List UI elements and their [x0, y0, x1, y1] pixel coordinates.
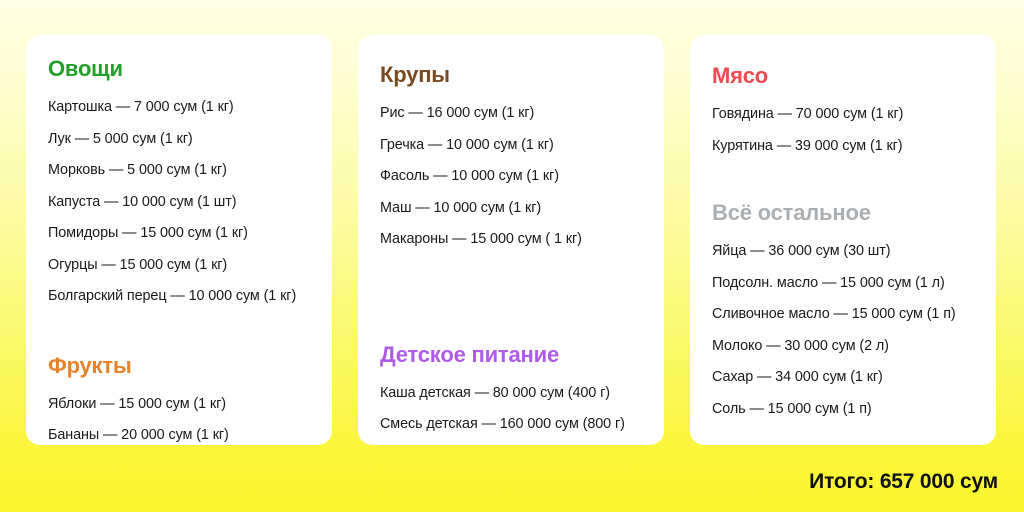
list-item: Смесь детская — 160 000 сум (800 г) [380, 409, 642, 441]
list-item: Курятина — 39 000 сум (1 кг) [712, 131, 974, 163]
category-group-vegetables: Овощи Картошка — 7 000 сум (1 кг) Лук — … [26, 56, 332, 313]
category-group-baby-food: Детское питание Каша детская — 80 000 су… [358, 342, 664, 441]
list-item: Помидоры — 15 000 сум (1 кг) [48, 218, 310, 250]
list-item: Капуста — 10 000 сум (1 шт) [48, 187, 310, 219]
category-card-meat-other: Мясо Говядина — 70 000 сум (1 кг) Куряти… [690, 35, 996, 445]
list-item: Гречка — 10 000 сум (1 кг) [380, 130, 642, 162]
group-title-fruits: Фрукты [48, 353, 310, 379]
category-group-everything-else: Всё остальное Яйца — 36 000 сум (30 шт) … [690, 200, 996, 425]
list-item: Фасоль — 10 000 сум (1 кг) [380, 161, 642, 193]
list-item: Бананы — 20 000 сум (1 кг) [48, 420, 310, 445]
total-amount: Итого: 657 000 сум [809, 470, 998, 494]
list-item: Болгарский перец — 10 000 сум (1 кг) [48, 281, 310, 313]
list-item: Картошка — 7 000 сум (1 кг) [48, 92, 310, 124]
cards-container: Овощи Картошка — 7 000 сум (1 кг) Лук — … [26, 35, 998, 445]
group-title-meat: Мясо [712, 63, 974, 89]
list-item: Молоко — 30 000 сум (2 л) [712, 331, 974, 363]
list-item: Яйца — 36 000 сум (30 шт) [712, 236, 974, 268]
list-item: Морковь — 5 000 сум (1 кг) [48, 155, 310, 187]
category-group-meat: Мясо Говядина — 70 000 сум (1 кг) Куряти… [690, 63, 996, 162]
list-item: Говядина — 70 000 сум (1 кг) [712, 99, 974, 131]
list-item: Лук — 5 000 сум (1 кг) [48, 124, 310, 156]
list-item: Макароны — 15 000 сум ( 1 кг) [380, 224, 642, 256]
category-group-grains: Крупы Рис — 16 000 сум (1 кг) Гречка — 1… [358, 62, 664, 256]
category-group-fruits: Фрукты Яблоки — 15 000 сум (1 кг) Бананы… [26, 353, 332, 446]
group-title-baby-food: Детское питание [380, 342, 642, 368]
list-item: Сахар — 34 000 сум (1 кг) [712, 362, 974, 394]
list-item: Сливочное масло — 15 000 сум (1 п) [712, 299, 974, 331]
group-title-vegetables: Овощи [48, 56, 310, 82]
category-card-grains-babyfood: Крупы Рис — 16 000 сум (1 кг) Гречка — 1… [358, 35, 664, 445]
group-title-grains: Крупы [380, 62, 642, 88]
group-title-everything-else: Всё остальное [712, 200, 974, 226]
list-item: Каша детская — 80 000 сум (400 г) [380, 378, 642, 410]
list-item: Маш — 10 000 сум (1 кг) [380, 193, 642, 225]
category-card-vegetables-fruits: Овощи Картошка — 7 000 сум (1 кг) Лук — … [26, 35, 332, 445]
list-item: Соль — 15 000 сум (1 п) [712, 394, 974, 426]
price-list-board: Овощи Картошка — 7 000 сум (1 кг) Лук — … [0, 0, 1024, 512]
list-item: Рис — 16 000 сум (1 кг) [380, 98, 642, 130]
list-item: Подсолн. масло — 15 000 сум (1 л) [712, 268, 974, 300]
list-item: Яблоки — 15 000 сум (1 кг) [48, 389, 310, 421]
list-item: Огурцы — 15 000 сум (1 кг) [48, 250, 310, 282]
